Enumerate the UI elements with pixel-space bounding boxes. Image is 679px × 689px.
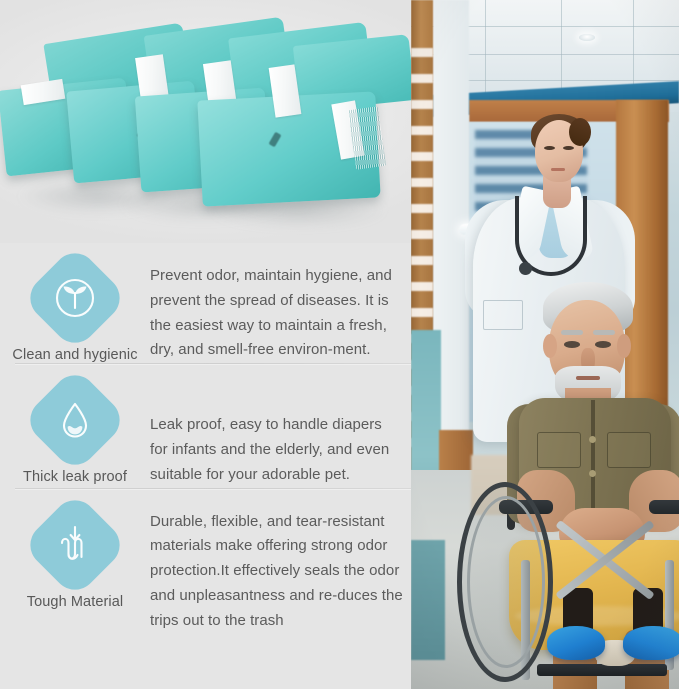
feature-caption: Tough Material xyxy=(27,594,124,610)
feature-description: Leak proof, easy to handle diapers for i… xyxy=(150,413,411,487)
man-shirt-placket xyxy=(591,400,595,522)
man-eye-left xyxy=(564,341,580,348)
feature-icon-column: Thick leak proof xyxy=(0,380,150,485)
man-shirt-button xyxy=(589,436,596,443)
wheelchair-armrest-right xyxy=(649,500,679,514)
leaf-circle-icon xyxy=(21,244,128,351)
nurse-mouth xyxy=(551,168,565,171)
feature-description: Durable, flexible, and tear-resistant ma… xyxy=(150,510,411,634)
man-eye-right xyxy=(595,341,611,348)
feature-icon-column: Clean and hygienic xyxy=(0,258,150,363)
ceiling-light xyxy=(579,34,595,41)
feature-caption: Thick leak proof xyxy=(23,469,127,485)
product-hero-image xyxy=(0,0,411,243)
product-feature-page: Clean and hygienic Prevent odor, maintai… xyxy=(0,0,679,689)
feature-list: Clean and hygienic Prevent odor, maintai… xyxy=(0,243,411,634)
man-eyebrow-left xyxy=(561,330,583,335)
feature-icon-column: Tough Material xyxy=(0,505,150,610)
stethoscope-bell xyxy=(519,262,532,275)
feature-row-clean-and-hygienic: Clean and hygienic Prevent odor, maintai… xyxy=(0,243,411,363)
baseboard xyxy=(411,540,445,660)
feature-row-tough-material: Tough Material Durable, flexible, and te… xyxy=(0,489,411,634)
wheelchair-hand-rim xyxy=(467,496,545,668)
man-shirt-button xyxy=(589,470,596,477)
blue-shoe-cover-left xyxy=(547,626,605,660)
nurse-eye-right xyxy=(563,146,574,150)
feature-description: Prevent odor, maintain hygiene, and prev… xyxy=(150,264,411,363)
feature-row-thick-leak-proof: Thick leak proof Leak proof, easy to han… xyxy=(0,364,411,487)
nurse-coat-pocket xyxy=(483,300,523,330)
nurse-hair-bun xyxy=(569,118,591,146)
arrow-down-spring-icon xyxy=(21,491,128,598)
man-ear-right xyxy=(617,334,631,358)
man-ear-left xyxy=(543,334,557,358)
man-shirt-pocket-left xyxy=(537,432,581,468)
water-drop-icon xyxy=(21,366,128,473)
feature-caption: Clean and hygienic xyxy=(12,347,137,363)
left-panel: Clean and hygienic Prevent odor, maintai… xyxy=(0,0,411,689)
lifestyle-photo xyxy=(411,0,679,689)
blue-shoe-cover-right xyxy=(623,626,679,660)
wheelchair-footplate xyxy=(537,664,667,676)
man-mouth xyxy=(576,376,600,380)
nurse-eye-left xyxy=(544,146,555,150)
man-shirt-pocket-right xyxy=(607,432,651,468)
man-eyebrow-right xyxy=(593,330,615,335)
